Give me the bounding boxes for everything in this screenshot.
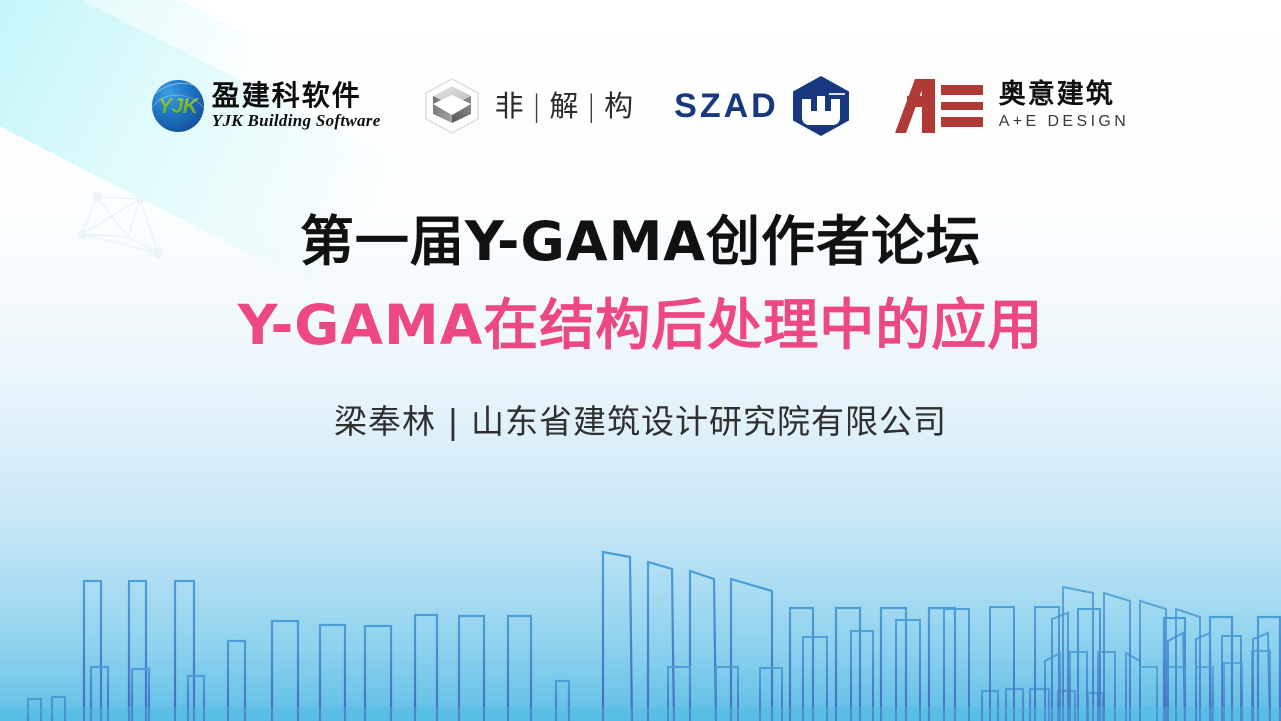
yjk-mark-text: YJK (152, 80, 204, 132)
logo-feijiegou-char-3: 构 (604, 92, 634, 121)
logo-yjk: YJK 盈建科软件 YJK Building Software (152, 71, 381, 141)
logo-szad-name: SZAD (674, 89, 779, 123)
logo-feijiegou: 非 | 解 | 构 (421, 71, 635, 141)
logo-feijiegou-text: 非 | 解 | 构 (495, 92, 635, 121)
logo-yjk-name-en-words: Building Software (247, 111, 380, 130)
presentation-title: Y-GAMA在结构后处理中的应用 (0, 290, 1281, 362)
logo-feijiegou-char-2: 解 (549, 92, 579, 121)
logo-yjk-name-en-abbr: YJK (212, 111, 243, 130)
forum-title: 第一届Y-GAMA创作者论坛 (0, 208, 1281, 276)
yjk-globe-icon: YJK (152, 80, 204, 132)
logo-ae-name-en: A+E DESIGN (999, 112, 1129, 131)
slide-canvas: YJK 盈建科软件 YJK Building Software (0, 0, 1281, 721)
sponsor-logo-row: YJK 盈建科软件 YJK Building Software (0, 70, 1281, 142)
logo-feijiegou-separator-2: | (586, 92, 597, 121)
presenter-line: 梁奉林 | 山东省建筑设计研究院有限公司 (0, 401, 1281, 444)
ae-monogram-icon (893, 77, 985, 135)
title-block: 第一届Y-GAMA创作者论坛 Y-GAMA在结构后处理中的应用 梁奉林 | 山东… (0, 208, 1281, 444)
logo-yjk-name-en: YJK Building Software (212, 111, 381, 131)
city-skyline-graphic (0, 521, 1281, 721)
logo-szad: SZAD (674, 71, 853, 141)
logo-yjk-name-cn: 盈建科软件 (212, 81, 381, 110)
logo-feijiegou-separator-1: | (532, 92, 543, 121)
logo-feijiegou-char-1: 非 (495, 92, 525, 121)
cube-isometric-icon (421, 77, 483, 135)
logo-ae-name-cn: 奥意建筑 (999, 81, 1129, 109)
logo-ae-design: 奥意建筑 A+E DESIGN (893, 71, 1129, 141)
szad-hexagon-icon (789, 75, 853, 137)
